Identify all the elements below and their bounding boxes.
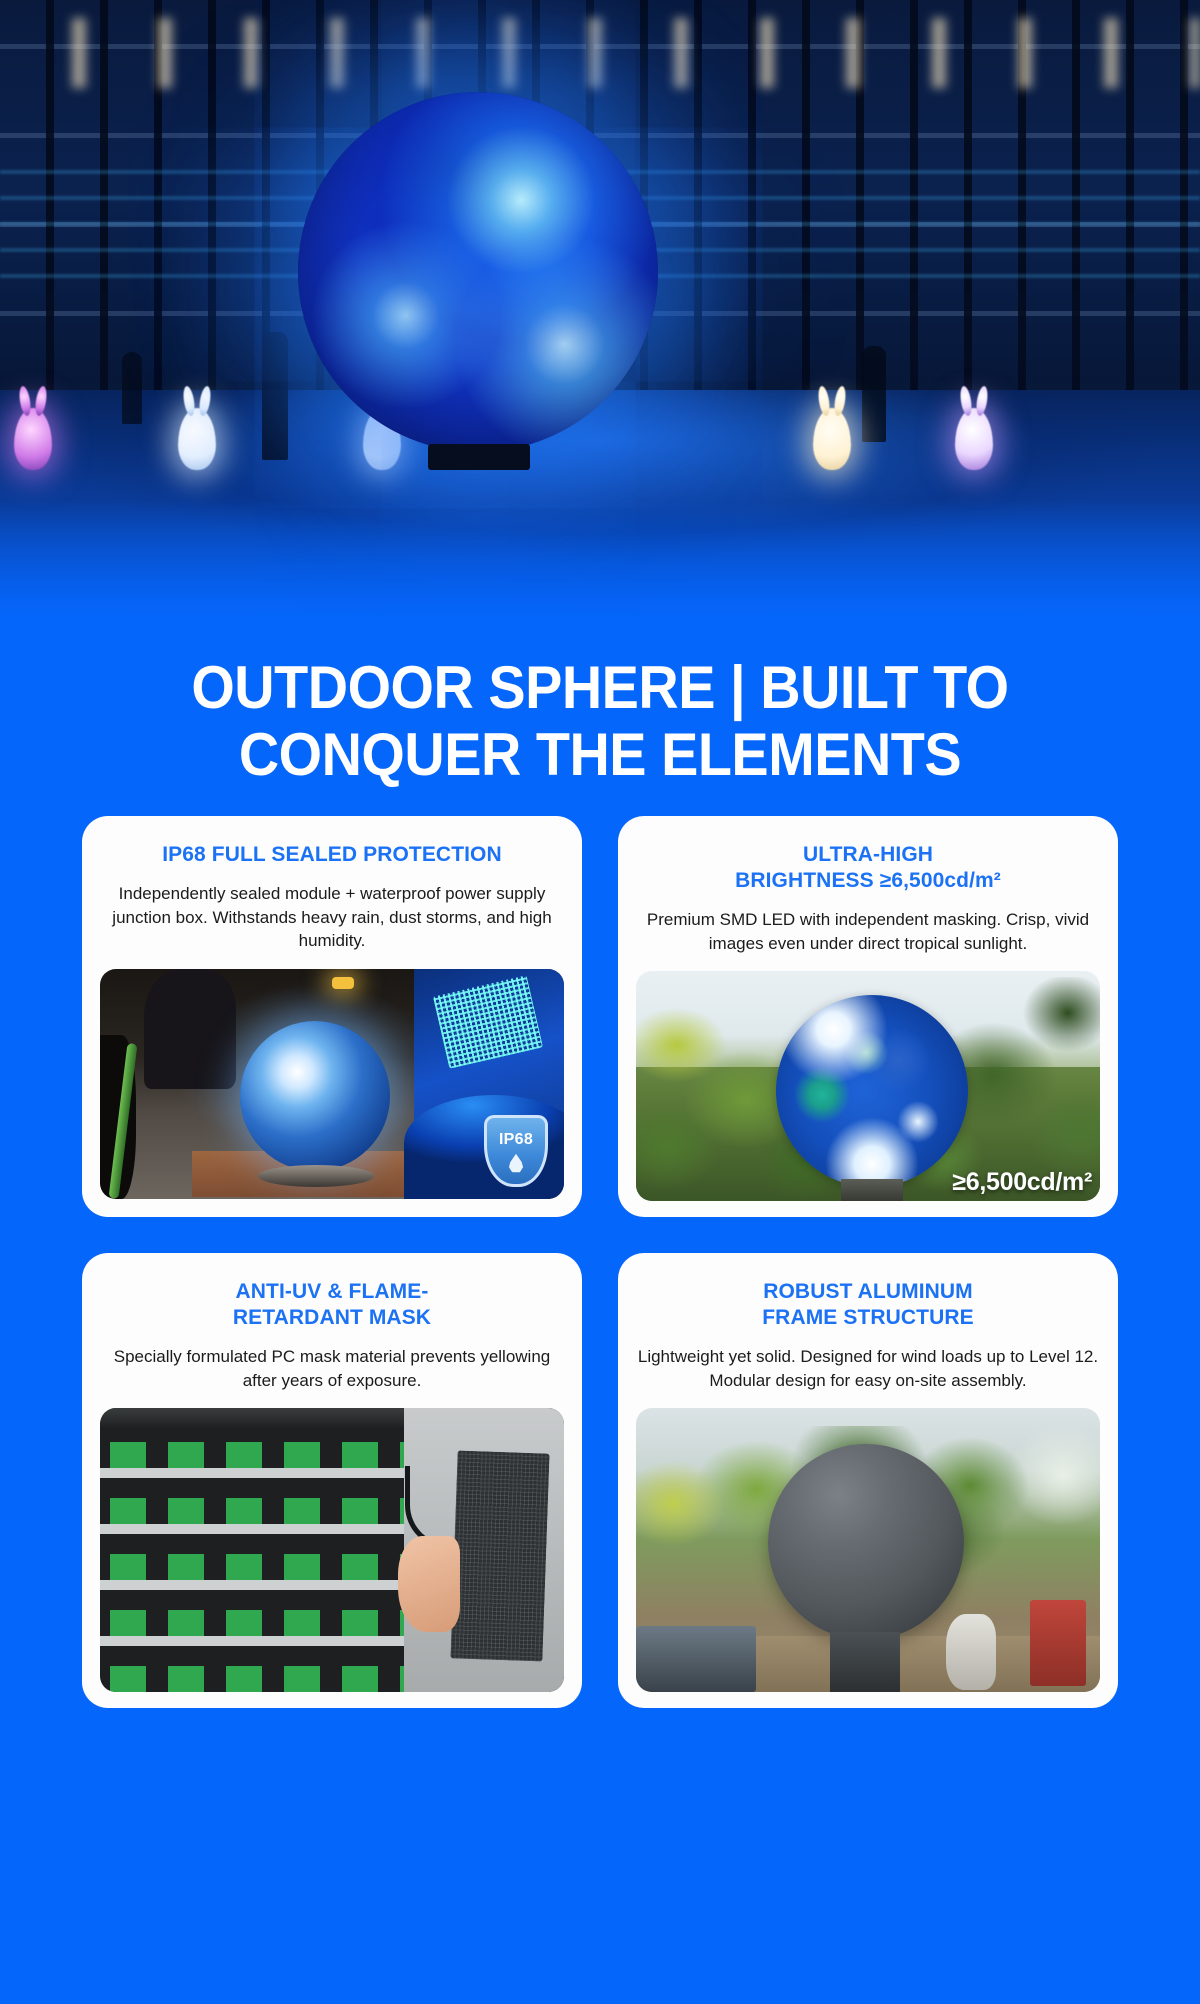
hero-banner — [0, 0, 1200, 620]
sphere-base — [258, 1165, 374, 1187]
visitor-silhouette — [262, 332, 288, 460]
sphere-support-pole — [841, 1179, 903, 1201]
led-mesh-module — [433, 975, 543, 1069]
grey-sphere-structure — [768, 1444, 964, 1640]
brightness-overlay-label: ≥6,500cd/m² — [952, 1168, 1092, 1197]
feature-card-grid: IP68 FULL SEALED PROTECTION Independentl… — [0, 798, 1200, 1708]
headline-line-2: CONQUER THE ELEMENTS — [239, 721, 961, 788]
card-title-line-1: ULTRA-HIGH — [803, 843, 933, 866]
card-body: Lightweight yet solid. Designed for wind… — [636, 1345, 1100, 1392]
feature-card-ip68[interactable]: IP68 FULL SEALED PROTECTION Independentl… — [82, 816, 582, 1217]
card-title: IP68 FULL SEALED PROTECTION — [162, 842, 502, 868]
page-title: OUTDOOR SPHERE | BUILT TO CONQUER THE EL… — [42, 620, 1158, 798]
card-body: Specially formulated PC mask material pr… — [100, 1345, 564, 1392]
visitor-silhouette — [862, 346, 886, 442]
sphere-base-plinth — [428, 444, 530, 470]
decorative-rock — [946, 1614, 996, 1690]
card-title-line-2: FRAME STRUCTURE — [762, 1306, 974, 1329]
hero-bottom-fade — [0, 500, 1200, 620]
earth-sphere-under-test — [240, 1021, 390, 1171]
water-drop-icon — [509, 1154, 524, 1173]
card-title: ROBUST ALUMINUM FRAME STRUCTURE — [762, 1279, 974, 1331]
card-body: Premium SMD LED with independent masking… — [636, 908, 1100, 955]
led-sphere-display — [298, 92, 658, 452]
feature-card-anti-uv[interactable]: ANTI-UV & FLAME- RETARDANT MASK Speciall… — [82, 1253, 582, 1708]
card-image-production-line — [100, 1408, 564, 1692]
ceiling-lights — [0, 18, 1200, 88]
card-title-line-1: ANTI-UV & FLAME- — [236, 1280, 429, 1303]
sphere-support-column — [830, 1632, 900, 1692]
card-title-line-2: BRIGHTNESS ≥6,500cd/m² — [735, 869, 1001, 892]
street-lamp-glow — [332, 977, 354, 989]
card-title-line-2: RETARDANT MASK — [233, 1306, 431, 1329]
visitor-silhouette — [122, 352, 142, 424]
site-truck — [636, 1626, 756, 1692]
card-image-ip68-test: IP68 — [100, 969, 564, 1199]
technician-hand — [398, 1536, 460, 1632]
headline-line-1: OUTDOOR SPHERE | BUILT TO — [191, 654, 1008, 721]
earth-globe-sphere — [776, 995, 968, 1187]
ip68-shield-badge: IP68 — [484, 1115, 548, 1187]
card-title: ULTRA-HIGH BRIGHTNESS ≥6,500cd/m² — [735, 842, 1001, 894]
feature-card-brightness[interactable]: ULTRA-HIGH BRIGHTNESS ≥6,500cd/m² Premiu… — [618, 816, 1118, 1217]
site-crane — [1030, 1600, 1086, 1686]
hero-photo — [0, 0, 1200, 620]
card-image-construction-site — [636, 1408, 1100, 1692]
ip68-badge-label: IP68 — [499, 1132, 533, 1148]
card-body: Independently sealed module + waterproof… — [100, 882, 564, 952]
card-title-line-1: ROBUST ALUMINUM — [763, 1280, 973, 1303]
finished-led-panel — [450, 1451, 549, 1662]
technician-silhouette — [144, 969, 236, 1089]
card-title: ANTI-UV & FLAME- RETARDANT MASK — [233, 1279, 431, 1331]
feature-card-aluminum-frame[interactable]: ROBUST ALUMINUM FRAME STRUCTURE Lightwei… — [618, 1253, 1118, 1708]
card-image-daylight-sphere: ≥6,500cd/m² — [636, 971, 1100, 1201]
